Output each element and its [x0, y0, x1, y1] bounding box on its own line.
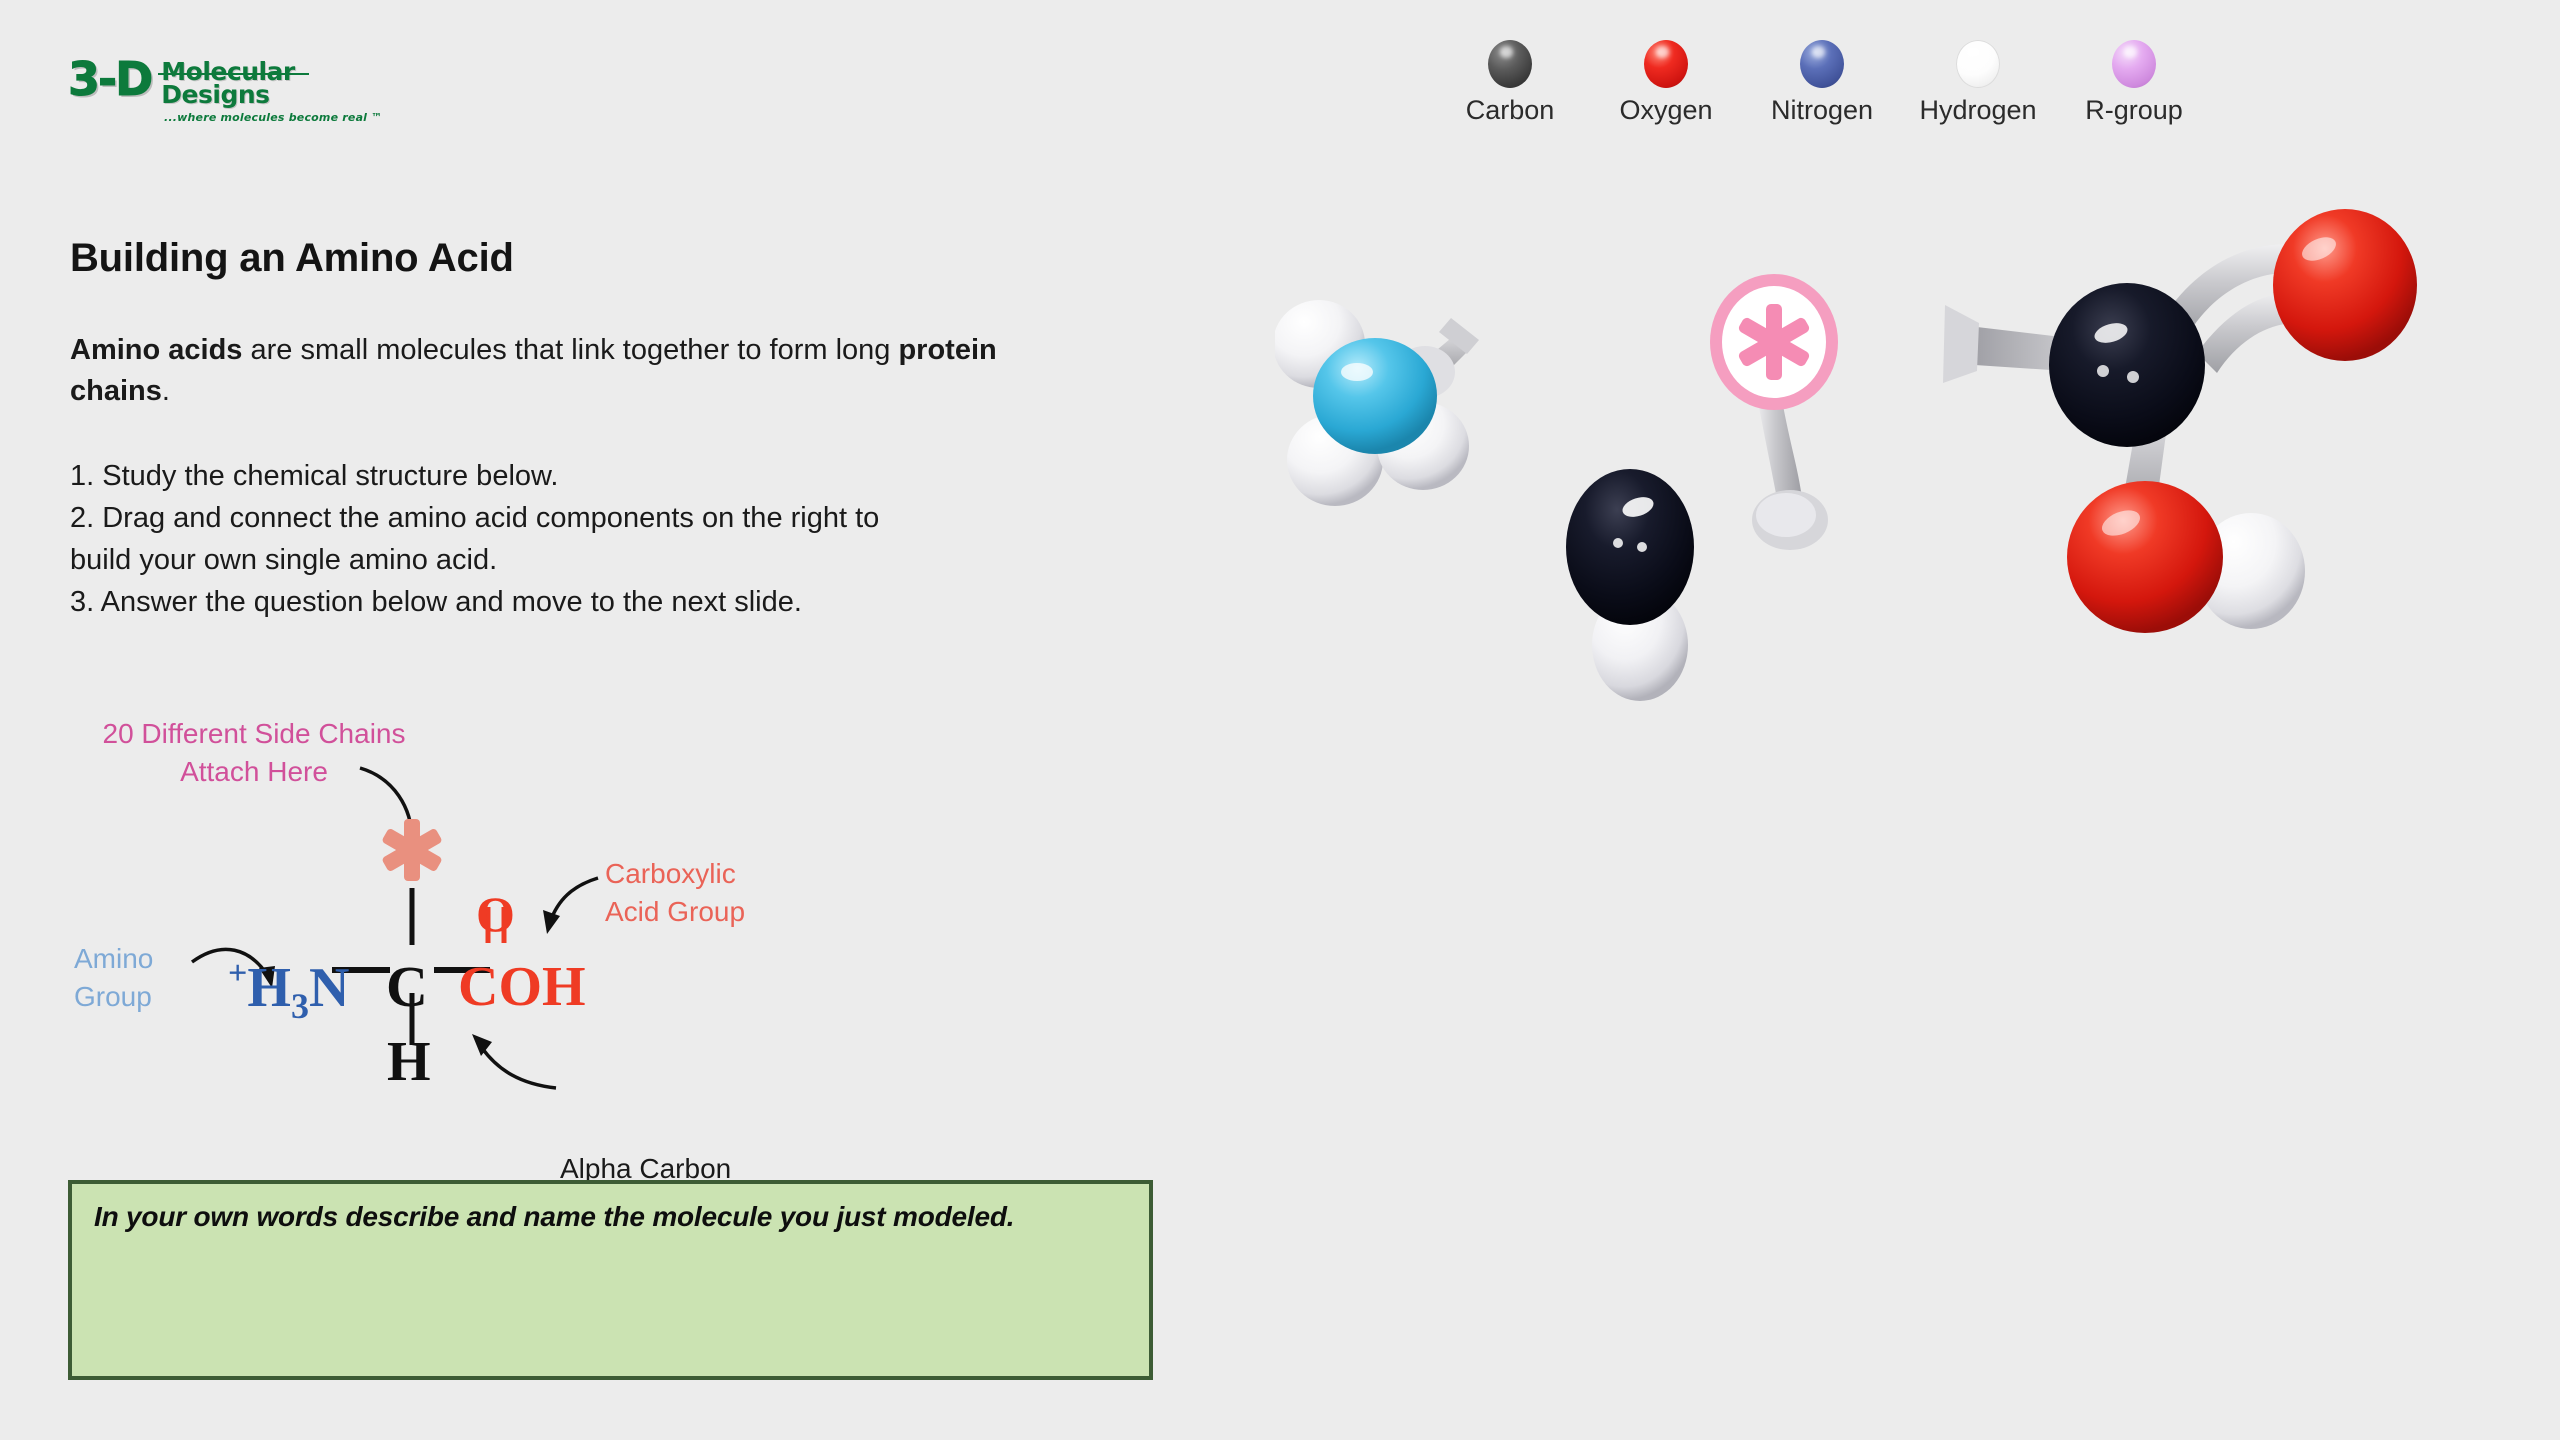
asterisk-marker	[381, 819, 443, 881]
legend-label-hydrogen: Hydrogen	[1919, 95, 2036, 126]
step-1: 1. Study the chemical structure below.	[70, 455, 1030, 497]
nitrogen-sphere-icon	[1800, 40, 1844, 88]
logo-3d-mark: 3-D	[68, 58, 151, 102]
legend-label-oxygen: Oxygen	[1619, 95, 1712, 126]
legend-label-carbon: Carbon	[1466, 95, 1555, 126]
arrow-alpha-carbon	[482, 1048, 556, 1088]
page-title: Building an Amino Acid	[70, 236, 514, 281]
intro-paragraph: Amino acids are small molecules that lin…	[70, 330, 1030, 412]
carboxylic-acid-model[interactable]	[1905, 175, 2425, 645]
formula-charge-plus: +	[228, 955, 247, 992]
logo-tagline: ...where molecules become real ™	[164, 111, 398, 124]
intro-text-2: .	[162, 375, 170, 407]
amino-group-model[interactable]	[1275, 300, 1605, 600]
logo-word-designs: Designs	[161, 83, 294, 106]
arrow-carboxylic-head	[543, 910, 560, 934]
nitrogen-specular	[1341, 363, 1373, 381]
nitrogen-sphere	[1313, 338, 1437, 454]
formula-carboxyl-coh: COH	[458, 955, 586, 1019]
rgroup-foot-highlight	[1756, 493, 1816, 537]
step-2-cont: build your own single amino acid.	[70, 539, 1030, 581]
legend-label-nitrogen: Nitrogen	[1771, 95, 1873, 126]
logo-word-molecular: Molecular	[161, 60, 294, 83]
legend-item-oxygen: Oxygen	[1588, 40, 1744, 126]
intro-bold-amino-acids: Amino acids	[70, 334, 242, 366]
legend-item-nitrogen: Nitrogen	[1744, 40, 1900, 126]
formula-carbonyl-oxygen: O	[476, 885, 515, 943]
hydrogen-sphere-icon	[1956, 40, 2000, 88]
oxygen-sphere-carbonyl	[2273, 209, 2417, 361]
atom-color-legend: Carbon Oxygen Nitrogen Hydrogen R-group	[1432, 40, 2212, 126]
r-group-model[interactable]	[1690, 272, 1890, 572]
formula-alpha-carbon: C	[386, 953, 428, 1020]
formula-amino-group: +H3N	[228, 955, 349, 1027]
oxygen-sphere-icon	[1644, 40, 1688, 88]
step-2: 2. Drag and connect the amino acid compo…	[70, 497, 1030, 539]
rgroup-stem	[1758, 400, 1802, 504]
carbon-specular-dot	[2097, 365, 2109, 377]
carbon-sphere	[2049, 283, 2205, 447]
intro-text-1: are small molecules that link together t…	[242, 334, 898, 366]
rgroup-sphere-icon	[2112, 40, 2156, 88]
legend-item-rgroup: R-group	[2056, 40, 2212, 126]
answer-prompt-text: In your own words describe and name the …	[94, 1201, 1014, 1233]
brand-logo: 3-D Molecular Designs ...where molecules…	[68, 58, 398, 148]
legend-label-rgroup: R-group	[2085, 95, 2183, 126]
carbon-specular-dot	[1637, 542, 1647, 552]
carbon-specular-dot	[1613, 538, 1623, 548]
step-3: 3. Answer the question below and move to…	[70, 581, 1030, 623]
carbon-sphere-icon	[1488, 40, 1532, 88]
oxygen-sphere-hydroxyl	[2067, 481, 2223, 633]
legend-item-carbon: Carbon	[1432, 40, 1588, 126]
formula-n: N	[309, 957, 349, 1019]
formula-alpha-hydrogen: H	[387, 1030, 431, 1094]
carbon-specular-dot	[2127, 371, 2139, 383]
carbon-sphere	[1566, 469, 1694, 625]
formula-subscript-3: 3	[291, 986, 309, 1026]
instruction-steps: 1. Study the chemical structure below. 2…	[70, 455, 1030, 623]
arrow-alpha-carbon-head	[472, 1034, 492, 1056]
answer-textarea[interactable]: In your own words describe and name the …	[68, 1180, 1153, 1380]
formula-h: H	[247, 957, 291, 1019]
legend-item-hydrogen: Hydrogen	[1900, 40, 2056, 126]
carboxyl-connector-flange	[1943, 305, 1979, 383]
